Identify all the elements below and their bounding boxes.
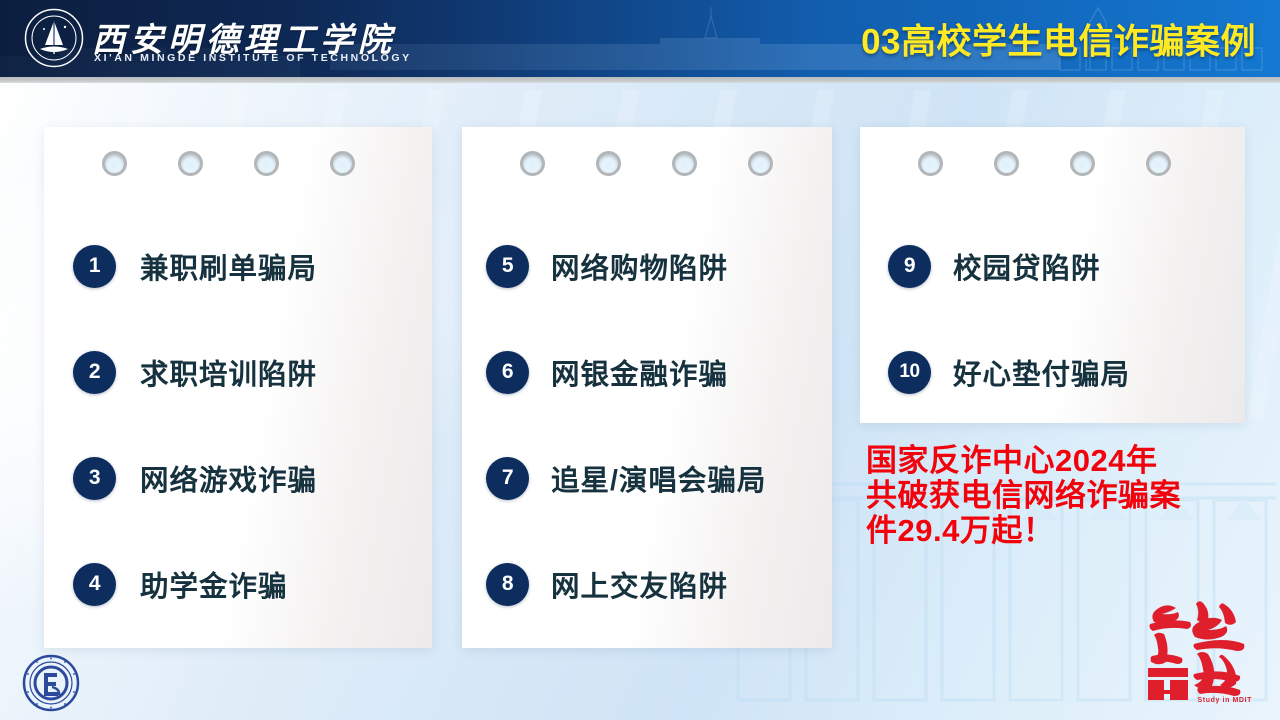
list-item[interactable]: 1 兼职刷单骗局 [44,213,432,319]
item-number-badge: 9 [888,245,931,288]
university-emblem-icon [24,8,84,68]
item-number-badge: 7 [486,457,529,500]
punch-hole-icon [1070,151,1095,176]
list-item-label: 网络购物陷阱 [551,246,728,287]
card-column-3: 9 校园贷陷阱 10 好心垫付骗局 [860,127,1245,423]
list-item[interactable]: 10 好心垫付骗局 [860,319,1245,425]
item-number-badge: 2 [73,351,116,394]
punch-hole-icon [520,151,545,176]
punch-holes-3 [860,151,1245,181]
list-item-label: 追星/演唱会骗局 [551,458,766,499]
calligraphy-brandmark-icon [1138,594,1262,706]
list-item-label: 求职培训陷阱 [140,352,317,393]
university-name-en: XI'AN MINGDE INSTITUTE OF TECHNOLOGY [94,52,412,64]
statistic-callout: 国家反诈中心2024年 共破获电信网络诈骗案 件29.4万起！ [866,443,1266,548]
punch-hole-icon [330,151,355,176]
list-item[interactable]: 4 助学金诈骗 [44,531,432,637]
list-item[interactable]: 5 网络购物陷阱 [462,213,832,319]
punch-holes-2 [462,151,832,181]
list-item-label: 网络游戏诈骗 [140,458,317,499]
slide-root: 西安明德理工学院 XI'AN MINGDE INSTITUTE OF TECHN… [0,0,1280,720]
header-divider [0,77,1280,83]
card-column-1: 1 兼职刷单骗局 2 求职培训陷阱 3 网络游戏诈骗 4 助学金诈骗 [44,127,432,648]
scam-list-3: 9 校园贷陷阱 10 好心垫付骗局 [860,213,1245,425]
page-title: 03高校学生电信诈骗案例 [861,13,1256,64]
list-item-label: 校园贷陷阱 [953,246,1101,287]
item-number-badge: 1 [73,245,116,288]
card-column-2: 5 网络购物陷阱 6 网银金融诈骗 7 追星/演唱会骗局 8 网上交友陷阱 [462,127,832,648]
punch-hole-icon [254,151,279,176]
item-number-badge: 10 [888,351,931,394]
punch-hole-icon [672,151,697,176]
item-number-badge: 8 [486,563,529,606]
scam-list-2: 5 网络购物陷阱 6 网银金融诈骗 7 追星/演唱会骗局 8 网上交友陷阱 [462,213,832,637]
callout-line-3: 件29.4万起！ [866,513,1266,548]
list-item-label: 网银金融诈骗 [551,352,728,393]
scam-list-1: 1 兼职刷单骗局 2 求职培训陷阱 3 网络游戏诈骗 4 助学金诈骗 [44,213,432,637]
callout-line-2: 共破获电信网络诈骗案 [866,478,1266,513]
list-item[interactable]: 9 校园贷陷阱 [860,213,1245,319]
list-item[interactable]: 3 网络游戏诈骗 [44,425,432,531]
list-item[interactable]: 6 网银金融诈骗 [462,319,832,425]
list-item[interactable]: 7 追星/演唱会骗局 [462,425,832,531]
slide-header: 西安明德理工学院 XI'AN MINGDE INSTITUTE OF TECHN… [0,0,1280,77]
list-item-label: 兼职刷单骗局 [140,246,317,287]
punch-hole-icon [748,151,773,176]
punch-hole-icon [994,151,1019,176]
punch-hole-icon [102,151,127,176]
list-item-label: 网上交友陷阱 [551,564,728,605]
list-item-label: 助学金诈骗 [140,564,288,605]
punch-hole-icon [918,151,943,176]
item-number-badge: 5 [486,245,529,288]
list-item[interactable]: 2 求职培训陷阱 [44,319,432,425]
punch-hole-icon [596,151,621,176]
callout-line-1: 国家反诈中心2024年 [866,443,1266,478]
item-number-badge: 6 [486,351,529,394]
item-number-badge: 4 [73,563,116,606]
list-item[interactable]: 8 网上交友陷阱 [462,531,832,637]
brandmark-subtitle: Study in MDIT [1198,697,1252,704]
item-number-badge: 3 [73,457,116,500]
punch-hole-icon [1146,151,1171,176]
punch-holes-1 [44,151,432,181]
university-seal-icon [22,654,80,712]
punch-hole-icon [178,151,203,176]
list-item-label: 好心垫付骗局 [953,352,1130,393]
